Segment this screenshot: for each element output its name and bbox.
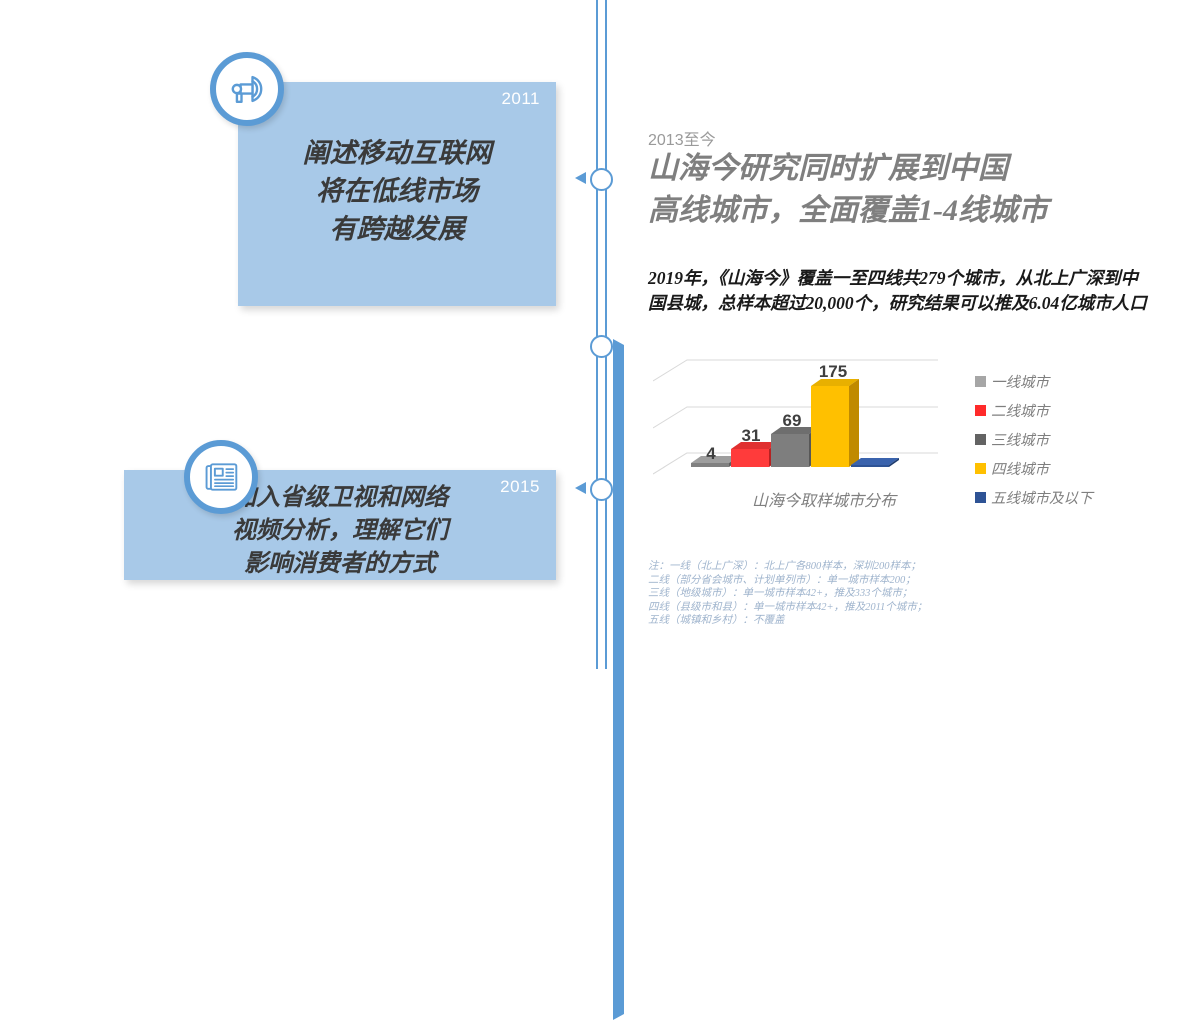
timeline-node-2013[interactable] <box>590 335 613 358</box>
right-content-column: 2013至今 山海今研究同时扩展到中国 高线城市，全面覆盖1-4线城市 2019… <box>648 0 1168 669</box>
legend-item[interactable]: 一线城市 <box>975 367 1093 396</box>
timeline-arrow-left-2011 <box>575 172 586 184</box>
legend-item[interactable]: 三线城市 <box>975 425 1093 454</box>
chart-x-axis-label: 山海今取样城市分布 <box>709 487 939 511</box>
timeline-arrow-left-2015 <box>575 482 586 494</box>
chart-value-tier3: 69 <box>783 411 802 430</box>
section-headline: 山海今研究同时扩展到中国 高线城市，全面覆盖1-4线城市 <box>648 148 1118 232</box>
chart-value-tier2: 31 <box>742 426 761 445</box>
chart-legend: 一线城市 二线城市 三线城市 四线城市 五线城市及以下 <box>975 367 1093 512</box>
card-year-label: 2011 <box>501 89 540 109</box>
legend-swatch-tier1 <box>975 376 986 387</box>
legend-swatch-tier2 <box>975 405 986 416</box>
city-tier-bar-chart: 4 31 69 175 山海今取样城市分布 一线城市 二线城市 三线城市 <box>653 355 1168 520</box>
legend-item[interactable]: 五线城市及以下 <box>975 483 1093 512</box>
newspaper-icon <box>184 440 258 514</box>
legend-swatch-tier3 <box>975 434 986 445</box>
megaphone-icon <box>210 52 284 126</box>
section-eyebrow: 2013至今 <box>648 126 716 150</box>
legend-item[interactable]: 二线城市 <box>975 396 1093 425</box>
legend-label-tier1: 一线城市 <box>991 371 1049 392</box>
timeline-node-2011[interactable] <box>590 168 613 191</box>
chart-value-tier4: 175 <box>819 362 847 381</box>
legend-swatch-tier5 <box>975 492 986 503</box>
chart-plot-area: 4 31 69 175 <box>653 355 973 485</box>
card-body-text: 阐述移动互联网 将在低线市场 有跨越发展 <box>238 134 556 248</box>
legend-label-tier5: 五线城市及以下 <box>991 487 1093 508</box>
timeline-node-2015[interactable] <box>590 478 613 501</box>
section-body-paragraph: 2019年，《山海今》覆盖一至四线共279个城市，从北上广深到中国县城，总样本超… <box>648 266 1150 316</box>
legend-label-tier4: 四线城市 <box>991 458 1049 479</box>
legend-swatch-tier4 <box>975 463 986 474</box>
chart-footnote: 注：一线（北上广深）：北上广各800样本，深圳200样本； 二线（部分省会城市、… <box>648 560 1078 628</box>
chart-bar-tier4 <box>811 379 859 467</box>
legend-label-tier2: 二线城市 <box>991 400 1049 421</box>
slide-canvas: 2011 阐述移动互联网 将在低线市场 有跨越发展 2015 加入省级卫视和网络… <box>0 0 1190 669</box>
legend-label-tier3: 三线城市 <box>991 429 1049 450</box>
legend-item[interactable]: 四线城市 <box>975 454 1093 483</box>
chart-value-tier1: 4 <box>706 444 716 463</box>
milestone-card-2011[interactable]: 2011 阐述移动互联网 将在低线市场 有跨越发展 <box>238 82 556 306</box>
